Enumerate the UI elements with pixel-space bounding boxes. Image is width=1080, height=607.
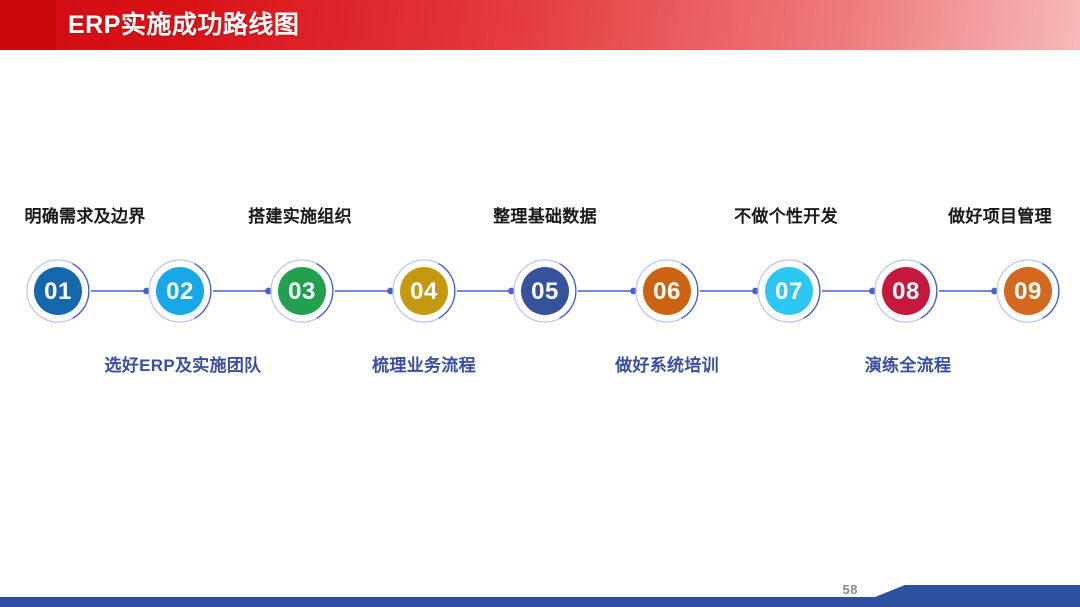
footer-wedge-shape: [850, 577, 1080, 607]
roadmap-node-01[interactable]: 01: [27, 260, 89, 322]
roadmap-node-05[interactable]: 05: [514, 260, 576, 322]
node-label-07: 不做个性开发: [734, 202, 838, 227]
roadmap-node-02[interactable]: 02: [149, 260, 211, 322]
node-number: 03: [288, 278, 316, 305]
node-number: 06: [653, 278, 681, 305]
node-label-04: 梳理业务流程: [372, 351, 476, 376]
roadmap-node-07[interactable]: 07: [758, 260, 820, 322]
node-label-06: 做好系统培训: [615, 351, 719, 376]
node-label-09: 做好项目管理: [948, 202, 1052, 227]
node-number: 08: [892, 278, 920, 305]
roadmap-graphics: 010203040506070809: [0, 0, 1080, 607]
node-number: 02: [166, 278, 194, 305]
node-number: 01: [44, 278, 72, 305]
node-number: 05: [531, 278, 559, 305]
roadmap-node-06[interactable]: 06: [636, 260, 698, 322]
node-number: 07: [775, 278, 803, 305]
roadmap-node-09[interactable]: 09: [997, 260, 1059, 322]
node-label-03: 搭建实施组织: [248, 202, 352, 227]
page-number: 58: [843, 582, 858, 597]
roadmap-diagram: 010203040506070809 明确需求及边界选好ERP及实施团队搭建实施…: [0, 0, 1080, 607]
node-number: 09: [1014, 278, 1042, 305]
node-number: 04: [410, 278, 438, 305]
node-label-05: 整理基础数据: [493, 202, 597, 227]
roadmap-node-04[interactable]: 04: [393, 260, 455, 322]
node-label-01: 明确需求及边界: [24, 202, 145, 227]
roadmap-node-08[interactable]: 08: [875, 260, 937, 322]
roadmap-node-03[interactable]: 03: [271, 260, 333, 322]
node-label-08: 演练全流程: [865, 351, 952, 376]
node-label-02: 选好ERP及实施团队: [105, 351, 262, 376]
